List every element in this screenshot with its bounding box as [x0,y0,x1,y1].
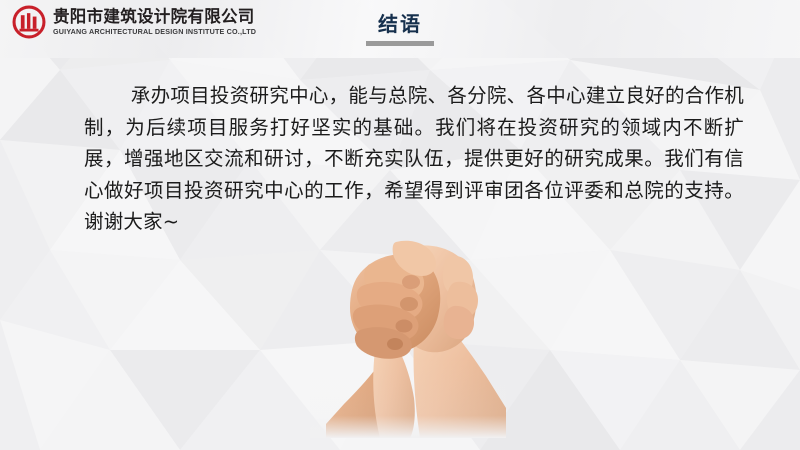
body-paragraph: 承办项目投资研究中心，能与总院、各分院、各中心建立良好的合作机制，为后续项目服务… [84,80,744,238]
body-text-block: 承办项目投资研究中心，能与总院、各分院、各中心建立良好的合作机制，为后续项目服务… [84,80,744,238]
slide-title-group: 结语 [0,14,800,46]
slide-header: 贵阳市建筑设计院有限公司 GUIYANG ARCHITECTURAL DESIG… [0,0,800,58]
slide-title: 结语 [0,14,800,34]
clasped-hands-graphic [310,238,506,438]
clasped-hands-photo [310,238,506,438]
presentation-slide: 贵阳市建筑设计院有限公司 GUIYANG ARCHITECTURAL DESIG… [0,0,800,450]
title-underline-rule [366,41,434,46]
